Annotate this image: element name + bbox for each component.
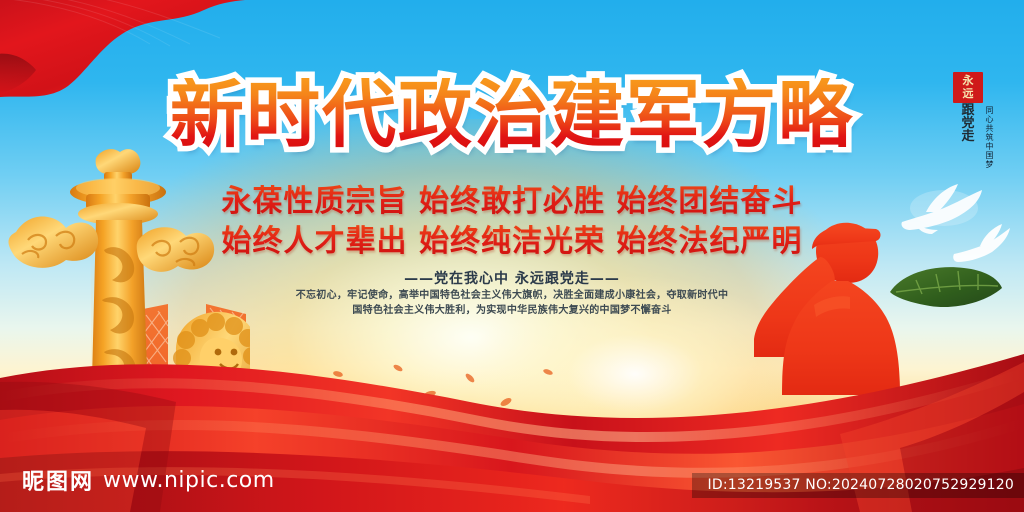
seal-side-text: 同 心 共 筑 中 国 梦 [984, 106, 995, 169]
watermark-site-cn: 昵图网 [22, 464, 94, 496]
subtitle-block: 永葆性质宗旨 始终敢打必胜 始终团结奋斗 始终人才辈出 始终纯洁光荣 始终法纪严… [0, 182, 1024, 262]
watermark-site-url: www.nipic.com [103, 468, 275, 493]
poster-canvas: 新时代政治建军方略 新时代政治建军方略 新时代政治建军方略 永葆性质宗旨 始终敢… [0, 0, 1024, 512]
seal-side-char-2: 心 [984, 115, 995, 124]
seal-stamp-char-1: 永 [953, 74, 983, 87]
poster-title-wrap: 新时代政治建军方略 新时代政治建军方略 新时代政治建军方略 [0, 78, 1024, 153]
seal-side-char-4: 筑 [984, 133, 995, 142]
subtitle-line-1: 永葆性质宗旨 始终敢打必胜 始终团结奋斗 [0, 182, 1024, 222]
seal-stamp-char-2: 远 [953, 87, 983, 100]
body-line-2: 国特色社会主义伟大胜利，为实现中华民族伟大复兴的中国梦不懈奋斗 [0, 303, 1024, 318]
body-paragraph: 不忘初心，牢记使命，高举中国特色社会主义伟大旗帜，决胜全面建成小康社会，夺取新时… [0, 288, 1024, 318]
seal-side-char-7: 梦 [984, 160, 995, 169]
seal-side-char-3: 共 [984, 124, 995, 133]
title-fill-layer: 新时代政治建军方略 [170, 78, 854, 153]
seal-stamp: 永 远 [953, 72, 983, 103]
seal-side-char-6: 国 [984, 151, 995, 160]
seal-side-char-1: 同 [984, 106, 995, 115]
vertical-seal: 永 远 跟 党 走 同 心 共 筑 中 国 梦 [940, 72, 996, 164]
page-title: 新时代政治建军方略 新时代政治建军方略 新时代政治建军方略 [170, 78, 854, 153]
watermark: 昵图网 www.nipic.com [22, 464, 275, 496]
body-line-1: 不忘初心，牢记使命，高举中国特色社会主义伟大旗帜，决胜全面建成小康社会，夺取新时… [0, 288, 1024, 303]
watermark-id-text: ID:13219537 NO:20240728020752929120 [692, 473, 1024, 498]
slogan-text: ——党在我心中 永远跟党走—— [0, 268, 1024, 288]
guardian-lion-icon [173, 312, 250, 460]
seal-side-char-5: 中 [984, 142, 995, 151]
subtitle-line-2: 始终人才辈出 始终纯洁光荣 始终法纪严明 [0, 222, 1024, 262]
seal-calligraphy: 跟 党 走 [951, 104, 985, 143]
seal-calli-char-3: 走 [951, 130, 985, 143]
